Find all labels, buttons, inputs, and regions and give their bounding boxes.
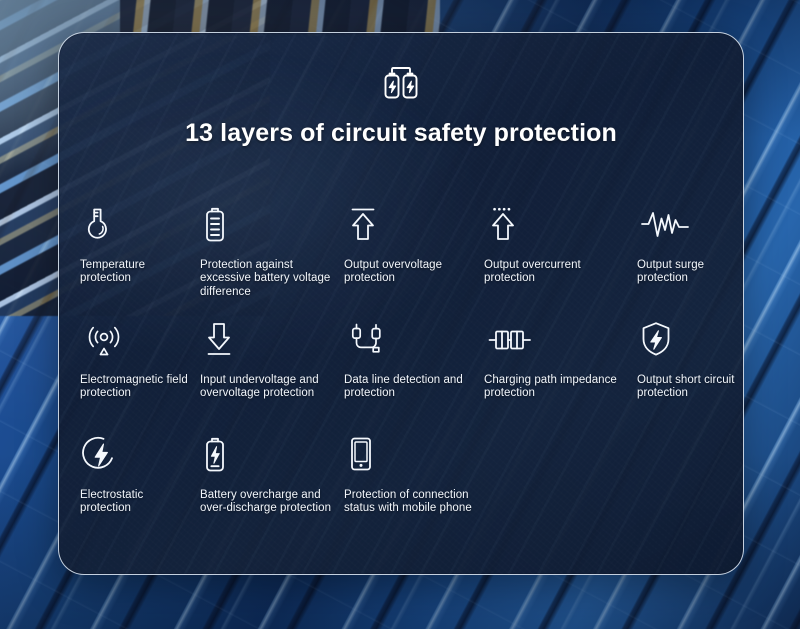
protection-item-charging-path-impedance: Charging path impedance protection	[484, 316, 637, 431]
header-icon-wrap	[59, 63, 743, 103]
mobile-phone-icon	[346, 431, 478, 477]
data-cable-icon	[346, 316, 478, 362]
protection-label: Charging path impedance protection	[484, 374, 631, 401]
shield-bolt-icon	[639, 316, 744, 362]
arrow-up-dots-icon	[486, 201, 631, 247]
resistor-icon	[486, 316, 631, 362]
protection-label: Output overvoltage protection	[344, 259, 478, 286]
protection-item-data-line-detection: Data line detection and protection	[344, 316, 484, 431]
protection-grid: Temperature protection Protection agains…	[80, 201, 729, 546]
protection-item-battery-voltage-difference: Protection against excessive battery vol…	[200, 201, 344, 316]
page-title: 13 layers of circuit safety protection	[59, 119, 743, 148]
dual-battery-charging-icon	[379, 63, 423, 103]
protection-label: Output overcurrent protection	[484, 259, 631, 286]
protection-item-output-overcurrent: Output overcurrent protection	[484, 201, 637, 316]
protection-label: Data line detection and protection	[344, 374, 478, 401]
protection-label: Output short circuit protection	[637, 374, 744, 401]
protection-item-output-surge: Output surge protection	[637, 201, 744, 316]
protection-item-input-under-overvoltage: Input undervoltage and overvoltage prote…	[200, 316, 344, 431]
protection-label: Electrostatic protection	[80, 489, 194, 516]
battery-level-icon	[202, 201, 338, 247]
circle-bolt-icon	[82, 431, 194, 477]
screenshot-root: 13 layers of circuit safety protection T…	[0, 0, 800, 629]
protection-item-connection-status: Protection of connection status with mob…	[344, 431, 484, 546]
protection-item-electrostatic: Electrostatic protection	[80, 431, 200, 546]
protection-label: Temperature protection	[80, 259, 194, 286]
protection-label: Electromagnetic field protection	[80, 374, 194, 401]
protection-label: Input undervoltage and overvoltage prote…	[200, 374, 338, 401]
protection-item-output-overvoltage: Output overvoltage protection	[344, 201, 484, 316]
protection-label: Output surge protection	[637, 259, 744, 286]
protection-item-electromagnetic-field: Electromagnetic field protection	[80, 316, 200, 431]
protection-card: 13 layers of circuit safety protection T…	[58, 32, 744, 575]
protection-item-output-short-circuit: Output short circuit protection	[637, 316, 744, 431]
protection-label: Battery overcharge and over-discharge pr…	[200, 489, 338, 516]
protection-label: Protection of connection status with mob…	[344, 489, 478, 516]
protection-item-temperature: Temperature protection	[80, 201, 200, 316]
waveform-surge-icon	[639, 201, 744, 247]
protection-item-battery-overcharge: Battery overcharge and over-discharge pr…	[200, 431, 344, 546]
arrow-down-line-icon	[202, 316, 338, 362]
protection-label: Protection against excessive battery vol…	[200, 259, 338, 299]
electromagnetic-wave-icon	[82, 316, 194, 362]
thermometer-icon	[82, 201, 194, 247]
arrow-up-line-icon	[346, 201, 478, 247]
battery-bolt-icon	[202, 431, 338, 477]
